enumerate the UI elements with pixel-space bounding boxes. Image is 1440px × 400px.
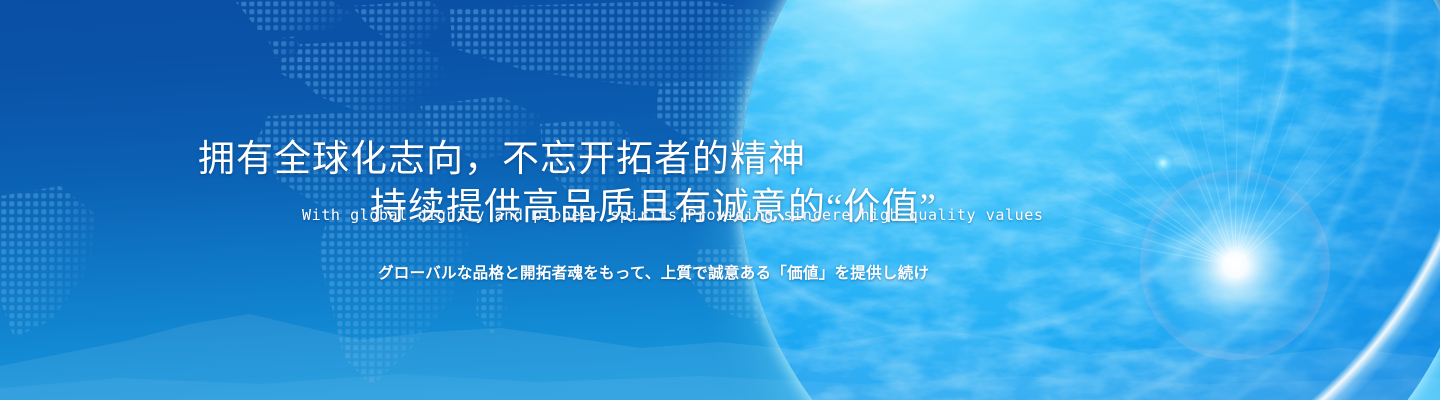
lens-flare-orb-icon — [1152, 152, 1174, 174]
headline-line-1: 拥有全球化志向，不忘开拓者的精神 — [198, 139, 806, 180]
subtitle-japanese: グローバルな品格と開拓者魂をもって、上質で誠意ある「価値」を提供し続け — [378, 261, 929, 283]
banner-copy: 拥有全球化志向，不忘开拓者的精神 持续提供高品质且有诚意的“价值” With g… — [0, 0, 1060, 400]
hero-banner: 拥有全球化志向，不忘开拓者的精神 持续提供高品质且有诚意的“价值” With g… — [0, 0, 1440, 400]
subtitle-english: With global dignity and pioneer spirits,… — [302, 206, 1044, 224]
planet-glow-spill — [1020, 60, 1440, 400]
headline: 拥有全球化志向，不忘开拓者的精神 持续提供高品质且有诚意的“价值” — [198, 88, 958, 280]
